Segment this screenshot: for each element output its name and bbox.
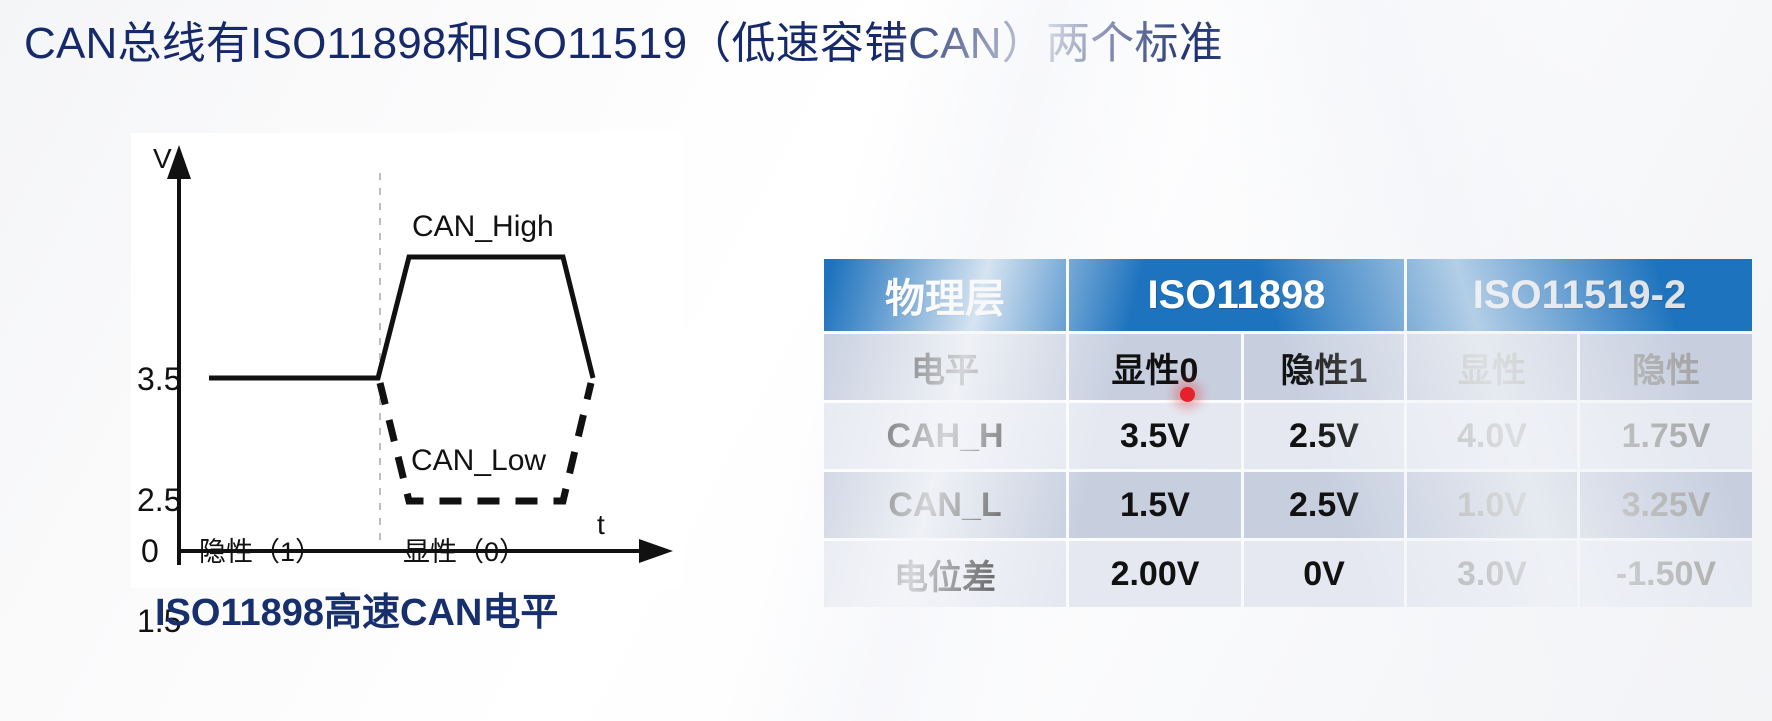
cell-can-l-iso11898-dominant: 1.5V	[1069, 472, 1241, 538]
slide-canvas: CAN总线有ISO11898和ISO11519（低速容错CAN）两个标准 V	[0, 0, 1772, 721]
y-tick-3-5: 3.5	[137, 361, 181, 398]
row-label-cah-h: CAH_H	[824, 403, 1066, 469]
region-label-recessive: 隐性（1）	[199, 530, 322, 569]
cell-diff-iso11898-recessive: 0V	[1244, 541, 1404, 607]
cell-diff-iso11898-dominant: 2.00V	[1069, 541, 1241, 607]
can-high-trace	[209, 257, 593, 378]
cell-can-l-iso11898-recessive: 2.5V	[1244, 472, 1404, 538]
cell-cah-h-iso11898-recessive: 2.5V	[1244, 403, 1404, 469]
can-high-label: CAN_High	[412, 210, 554, 244]
can-low-label: CAN_Low	[411, 444, 546, 478]
cell-iso11898-dominant: 显性0	[1069, 334, 1241, 400]
table-row: 电平 显性0 隐性1 显性 隐性	[824, 334, 1752, 400]
cell-cah-h-iso11519-dominant: 4.0V	[1407, 403, 1577, 469]
page-title: CAN总线有ISO11898和ISO11519（低速容错CAN）两个标准	[24, 12, 1724, 76]
table-row: CAN_L 1.5V 2.5V 1.0V 3.25V	[824, 472, 1752, 538]
header-cell-iso11898: ISO11898	[1069, 259, 1404, 331]
region-label-dominant: 显性（0）	[403, 530, 526, 569]
row-label-can-l: CAN_L	[824, 472, 1066, 538]
y-axis-unit-label: V	[153, 143, 172, 175]
x-axis-unit-label: t	[597, 509, 605, 541]
row-label-level: 电平	[824, 334, 1066, 400]
cell-diff-iso11519-recessive: -1.50V	[1580, 541, 1752, 607]
cell-can-l-iso11519-recessive: 3.25V	[1580, 472, 1752, 538]
cell-cah-h-iso11519-recessive: 1.75V	[1580, 403, 1752, 469]
y-tick-2-5: 2.5	[137, 482, 181, 519]
row-label-potential-difference: 电位差	[824, 541, 1066, 607]
can-waveform-figure: V 3.5 2.5 1.5 0 t CAN_High CAN_Low 隐性（1）…	[131, 133, 683, 588]
header-cell-physical-layer: 物理层	[824, 259, 1066, 331]
table-row: 电位差 2.00V 0V 3.0V -1.50V	[824, 541, 1752, 607]
can-low-trace	[380, 383, 591, 501]
figure-caption: ISO11898高速CAN电平	[155, 588, 675, 638]
cell-iso11898-recessive: 隐性1	[1244, 334, 1404, 400]
table-header-row: 物理层 ISO11898 ISO11519-2	[824, 259, 1752, 331]
cell-iso11519-recessive: 隐性	[1580, 334, 1752, 400]
cell-can-l-iso11519-dominant: 1.0V	[1407, 472, 1577, 538]
header-cell-iso11519-2: ISO11519-2	[1407, 259, 1752, 331]
cell-diff-iso11519-dominant: 3.0V	[1407, 541, 1577, 607]
cell-iso11519-dominant: 显性	[1407, 334, 1577, 400]
origin-label: 0	[141, 533, 159, 570]
cell-cah-h-iso11898-dominant: 3.5V	[1069, 403, 1241, 469]
table-row: CAH_H 3.5V 2.5V 4.0V 1.75V	[824, 403, 1752, 469]
physical-layer-spec-table: 物理层 ISO11898 ISO11519-2 电平 显性0 隐性1 显性 隐性…	[821, 256, 1755, 610]
